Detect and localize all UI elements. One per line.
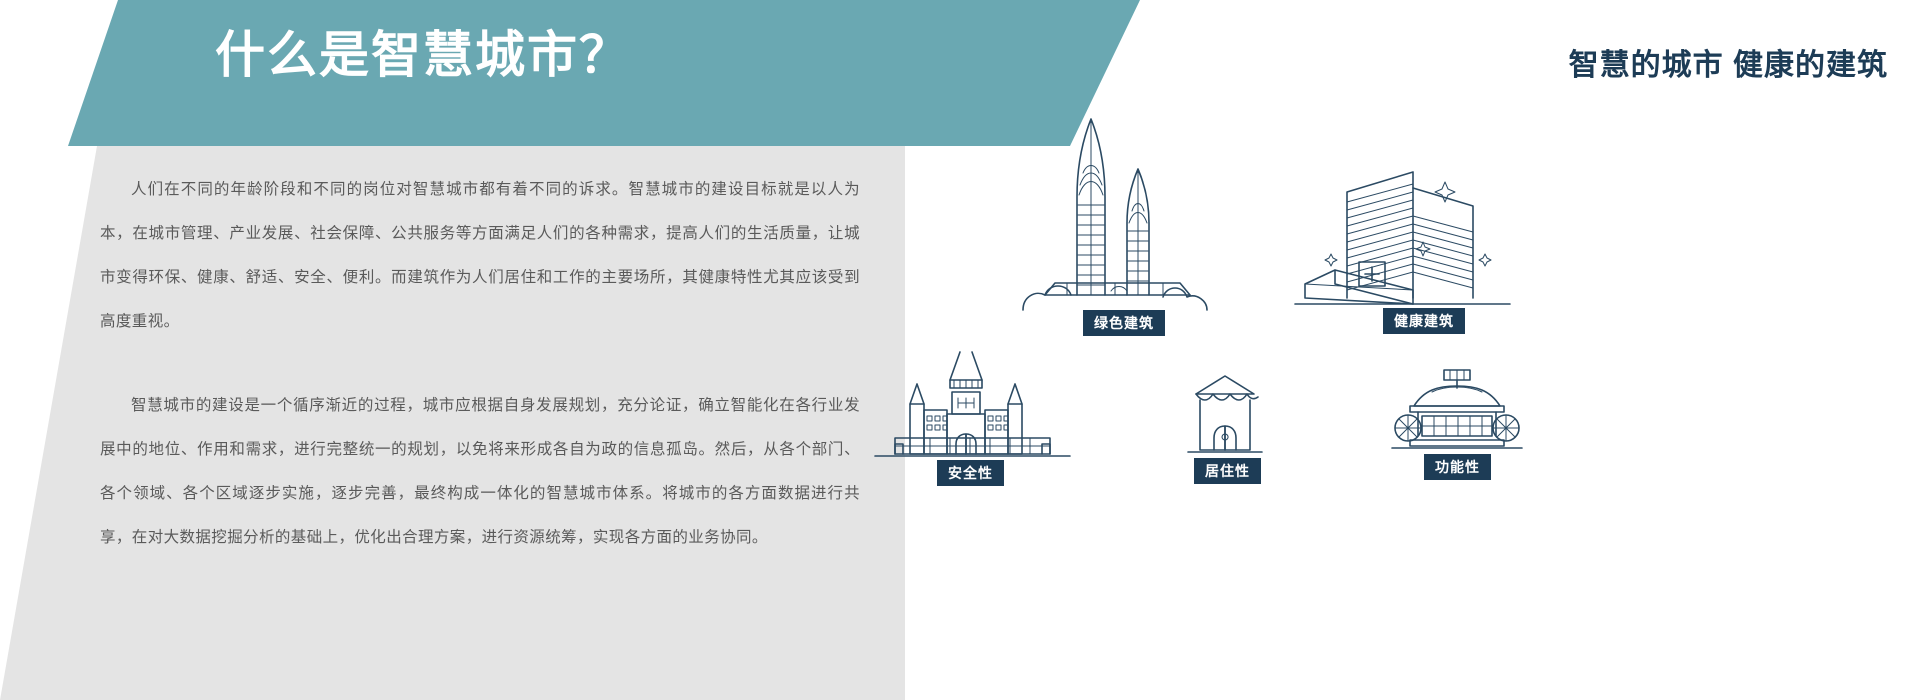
house-shop-figure: 居住性: [1180, 372, 1270, 462]
page-title: 什么是智慧城市？: [215, 30, 631, 80]
badge-livability: 居住性: [1194, 458, 1261, 484]
paragraph-1: 人们在不同的年龄阶段和不同的岗位对智慧城市都有着不同的诉求。智慧城市的建设目标就…: [100, 168, 860, 344]
castle-icon: [855, 350, 1090, 460]
pavilion-figure: 功能性: [1392, 366, 1522, 456]
hospital-building-icon: [1295, 158, 1510, 308]
twin-towers-figure: 绿色建筑: [1015, 105, 1215, 310]
badge-green-building: 绿色建筑: [1083, 310, 1165, 336]
hospital-figure: 健康建筑: [1295, 158, 1510, 308]
castle-figure: 安全性: [855, 350, 1090, 460]
body-copy: 人们在不同的年龄阶段和不同的岗位对智慧城市都有着不同的诉求。智慧城市的建设目标就…: [100, 168, 860, 560]
badge-functionality: 功能性: [1424, 454, 1491, 480]
badge-health-building: 健康建筑: [1383, 308, 1465, 334]
slide-canvas: 什么是智慧城市？ 智慧的城市 健康的建筑 人们在不同的年龄阶段和不同的岗位对智慧…: [0, 0, 1920, 700]
illustration-area: 绿色建筑 健康建筑: [905, 0, 1920, 700]
house-shop-icon: [1180, 372, 1270, 462]
badge-safety: 安全性: [937, 460, 1004, 486]
paragraph-2: 智慧城市的建设是一个循序渐近的过程，城市应根据自身发展规划，充分论证，确立智能化…: [100, 384, 860, 560]
pavilion-icon: [1392, 366, 1522, 456]
twin-towers-icon: [1015, 105, 1215, 310]
